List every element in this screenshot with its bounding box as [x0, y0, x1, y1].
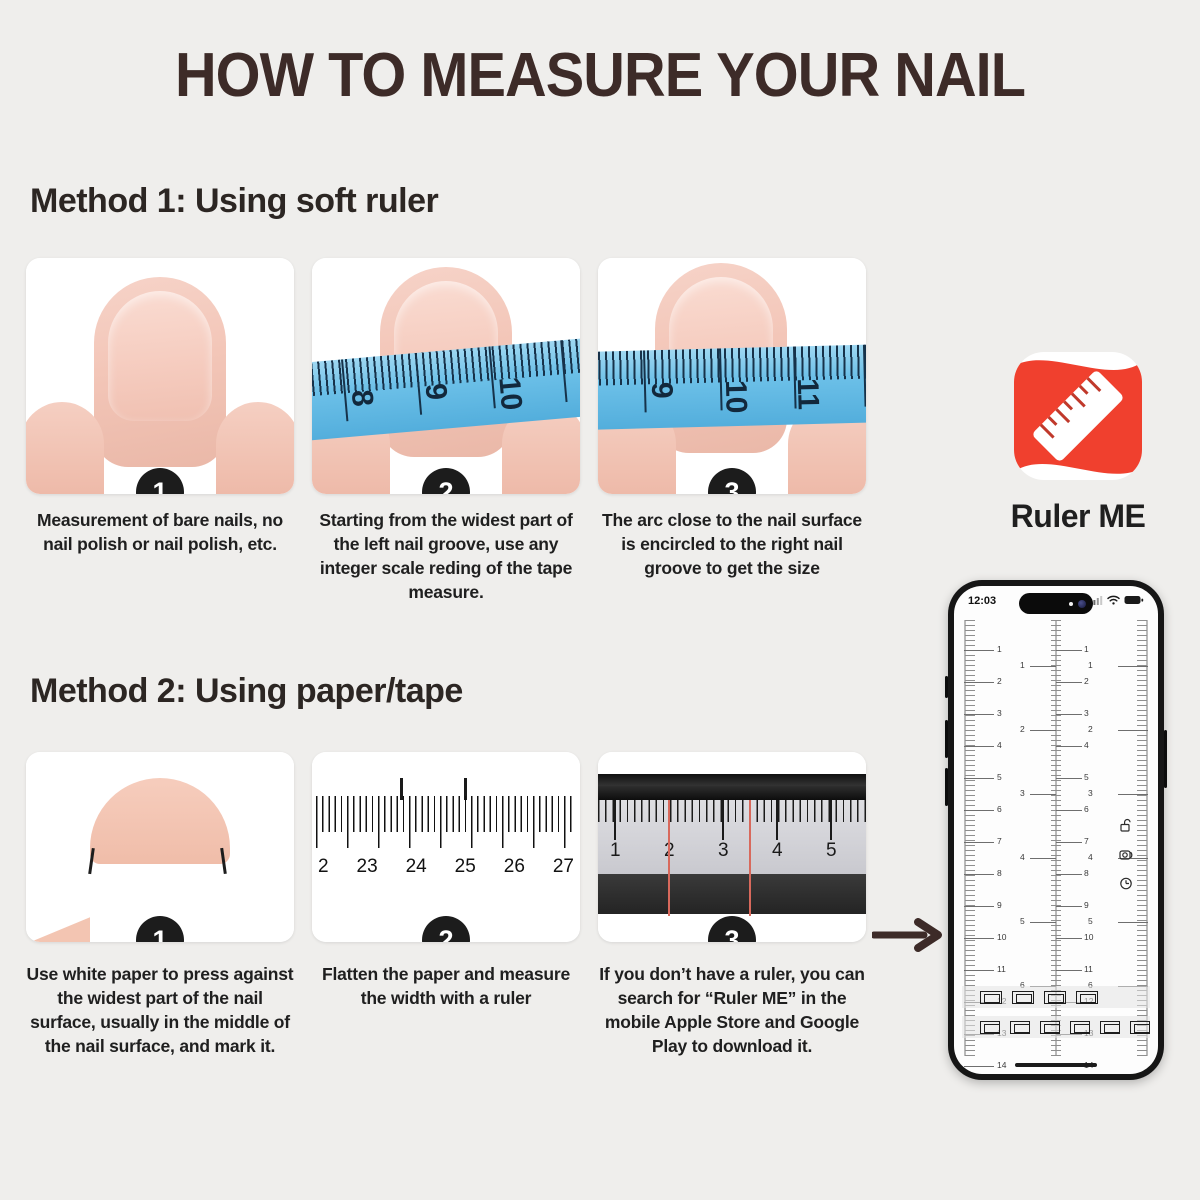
phone-screen[interactable]: 12:03 [954, 586, 1158, 1074]
ruler-label: 2 [1020, 724, 1025, 734]
bare-fingernail-photo [26, 258, 294, 494]
ruler-label: 7 [1084, 836, 1089, 846]
method-2-heading: Method 2: Using paper/tape [30, 672, 463, 711]
right-arrow-icon [872, 918, 946, 957]
battery-icon [1124, 592, 1144, 610]
method-1-heading: Method 1: Using soft ruler [30, 182, 438, 221]
ruler-widget-chip[interactable] [1100, 1021, 1120, 1034]
ruler-label: 6 [997, 804, 1002, 814]
ruler-label: 1 [1088, 660, 1093, 670]
app-name-label: Ruler ME [985, 498, 1171, 535]
method-1-step-2-card: 8 9 10 2 [312, 258, 580, 494]
ruler-widget-chip[interactable] [1076, 991, 1098, 1004]
method-2-step-3-caption: If you don’t have a ruler, you can searc… [598, 962, 866, 1059]
paper-ruler-photo: 2 23 24 25 26 27 [312, 752, 580, 942]
ruler-label: 5 [997, 772, 1002, 782]
measure-marker-line [749, 800, 751, 916]
method-1-step-1-caption: Measurement of bare nails, no nail polis… [26, 508, 294, 556]
ruler-widget-row[interactable] [962, 986, 1150, 1008]
ruler-number-row: 2 23 24 25 26 27 [312, 856, 580, 878]
ruler-number: 5 [826, 840, 837, 862]
ruler-label: 4 [1020, 852, 1025, 862]
ruler-number: 26 [504, 856, 525, 878]
ruler-label: 3 [997, 708, 1002, 718]
method-1-step-3-caption: The arc close to the nail surface is enc… [598, 508, 866, 580]
ruler-label: 10 [1084, 932, 1093, 942]
tape-measure-on-thumb-photo: 8 9 10 [312, 258, 580, 494]
clock-icon[interactable] [1119, 876, 1134, 891]
infographic-page: HOW TO MEASURE YOUR NAIL Method 1: Using… [0, 0, 1200, 1200]
app-promo-block: Ruler ME [985, 352, 1171, 535]
method-2-step-3-card: 1 2 3 4 5 3 [598, 752, 866, 942]
ruler-number: 24 [406, 856, 427, 878]
tape-number: 9 [418, 382, 453, 402]
camera-icon[interactable] [1119, 847, 1134, 862]
measure-marker-line [668, 800, 670, 916]
ruler-label: 4 [1088, 852, 1093, 862]
ruler-widget-chip[interactable] [1070, 1021, 1090, 1034]
ruler-label: 10 [997, 932, 1006, 942]
ruler-label: 6 [1084, 804, 1089, 814]
method-1-step-2-caption: Starting from the widest part of the lef… [312, 508, 580, 605]
dynamic-island [1019, 593, 1093, 614]
method-1-step-3-card: 9 10 11 3 [598, 258, 866, 494]
ruler-widget-chip[interactable] [1012, 991, 1034, 1004]
status-time: 12:03 [968, 595, 996, 607]
tape-measure-strip: 9 10 11 [598, 344, 866, 430]
phone-mockup: 12:03 [948, 580, 1164, 1080]
lock-open-icon[interactable] [1119, 818, 1134, 833]
ruler-label: 8 [997, 868, 1002, 878]
ruler-number: 23 [357, 856, 378, 878]
ruler-label: 1 [1084, 644, 1089, 654]
ruler-label: 1 [1020, 660, 1025, 670]
phone-tool-icons [1119, 818, 1134, 891]
ruler-number: 25 [455, 856, 476, 878]
ruler-number: 3 [718, 840, 729, 862]
ruler-label: 2 [1088, 724, 1093, 734]
ruler-label: 1 [997, 644, 1002, 654]
ruler-label: 4 [997, 740, 1002, 750]
ruler-number: 2 [318, 856, 329, 878]
ruler-label: 3 [1084, 708, 1089, 718]
ruler-number: 1 [610, 840, 621, 862]
ruler-label: 3 [1088, 788, 1093, 798]
ruler-label: 7 [997, 836, 1002, 846]
tape-number: 10 [718, 380, 753, 414]
metal-ruler-photo: 1 2 3 4 5 [598, 752, 866, 942]
ruler-label: 2 [997, 676, 1002, 686]
ruler-label: 14 [997, 1060, 1006, 1070]
ruler-widget-chip[interactable] [1010, 1021, 1030, 1034]
ruler-label: 5 [1088, 916, 1093, 926]
tape-number: 9 [644, 382, 678, 400]
method-2-step-1-caption: Use white paper to press against the wid… [26, 962, 294, 1059]
ruler-label: 11 [1084, 964, 1093, 974]
ruler-label: 5 [1020, 916, 1025, 926]
ruler-number: 27 [553, 856, 574, 878]
ruler-widget-chip[interactable] [1040, 1021, 1060, 1034]
ruler-label: 3 [1020, 788, 1025, 798]
ruler-widget-chip[interactable] [980, 991, 1002, 1004]
method-2-step-2-caption: Flatten the paper and measure the width … [312, 962, 580, 1010]
home-indicator[interactable] [1015, 1063, 1097, 1067]
nail-imprint-on-paper-photo [26, 752, 294, 942]
ruler-label: 9 [1084, 900, 1089, 910]
ruler-me-app-icon[interactable] [1014, 352, 1142, 480]
page-title: HOW TO MEASURE YOUR NAIL [42, 40, 1158, 111]
ruler-label: 9 [997, 900, 1002, 910]
wifi-icon [1107, 592, 1120, 610]
ruler-label: 11 [997, 964, 1006, 974]
method-1-step-1-card: 1 [26, 258, 294, 494]
tape-measure-wrapped-photo: 9 10 11 [598, 258, 866, 494]
ruler-widget-chip[interactable] [980, 1021, 1000, 1034]
tape-number: 10 [491, 375, 528, 411]
ruler-label: 2 [1084, 676, 1089, 686]
ruler-label: 4 [1084, 740, 1089, 750]
ruler-label: 8 [1084, 868, 1089, 878]
ruler-label: 5 [1084, 772, 1089, 782]
ruler-widget-chip[interactable] [1130, 1021, 1150, 1034]
method-2-step-2-card: 2 23 24 25 26 27 2 [312, 752, 580, 942]
ruler-number: 4 [772, 840, 783, 862]
tape-number: 11 [790, 378, 825, 411]
ruler-widget-row[interactable] [962, 1016, 1150, 1038]
method-2-step-1-card: 1 [26, 752, 294, 942]
tape-number: 8 [344, 388, 379, 408]
ruler-widget-chip[interactable] [1044, 991, 1066, 1004]
